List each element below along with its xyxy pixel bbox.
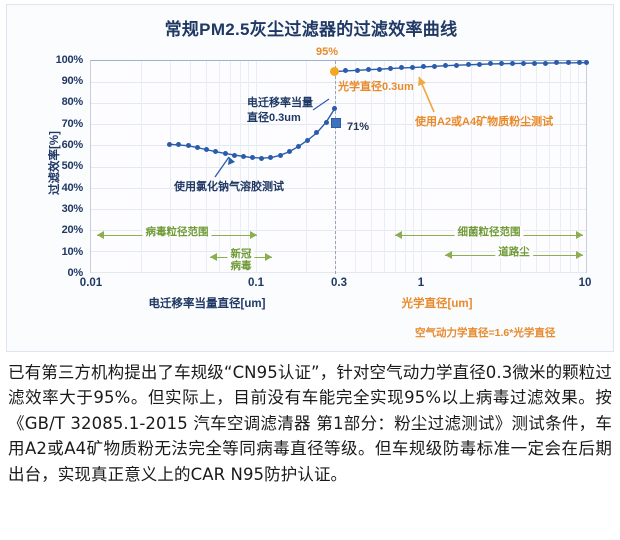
data-point <box>577 60 582 65</box>
range-bacteria-arrow-left <box>395 231 402 239</box>
data-point <box>543 61 548 66</box>
gridline-horizontal <box>91 272 586 273</box>
range-road-dust-label: 道路尘 <box>495 246 533 258</box>
annotation-optical-diameter: 光学直径0.3um <box>338 80 414 94</box>
range-bacteria-label: 细菌粒径范围 <box>455 226 524 238</box>
series-line-1 <box>335 63 586 72</box>
chart-panel: 常规PM2.5灰尘过滤器的过滤效率曲线 过滤效率[%] 100% 90% 80%… <box>6 4 614 352</box>
highlight-marker-71 <box>331 118 341 128</box>
range-road-dust-arrow-left <box>445 251 452 259</box>
data-point <box>259 156 264 161</box>
annotation-nacl-test: 使用氯化钠气溶胶测试 <box>174 180 284 194</box>
data-point <box>232 153 237 158</box>
range-bacteria-arrow-right <box>576 231 583 239</box>
range-virus-label: 病毒粒径范围 <box>143 226 212 238</box>
article-paragraph: 已有第三方机构提出了车规级“CN95认证”，针对空气动力学直径0.3微米的颗粒过… <box>8 360 612 487</box>
data-point <box>241 154 246 159</box>
annotation-a2a4-test: 使用A2或A4矿物质粉尘测试 <box>415 115 553 129</box>
y-tick-10: 10% <box>23 246 83 258</box>
data-point <box>377 67 382 72</box>
y-tick-100: 100% <box>23 54 83 66</box>
y-tick-60: 60% <box>23 139 83 151</box>
y-tick-40: 40% <box>23 182 83 194</box>
x-tick-1: 1 <box>418 277 424 289</box>
label-95-percent: 95% <box>316 46 338 58</box>
data-point <box>305 138 310 143</box>
range-covid: 新冠 病毒 <box>210 252 272 264</box>
data-point <box>204 147 209 152</box>
y-tick-80: 80% <box>23 96 83 108</box>
range-virus-arrow-left <box>97 231 104 239</box>
range-covid-arrow-right <box>265 253 272 261</box>
label-71-percent: 71% <box>347 121 369 133</box>
data-point <box>584 60 589 65</box>
data-point <box>195 145 200 150</box>
data-point <box>477 62 482 67</box>
range-virus-arrow-right <box>250 231 257 239</box>
data-point <box>324 120 329 125</box>
annotation-electro-line2: 直径0.3um <box>247 111 301 125</box>
data-point <box>532 61 537 66</box>
data-point <box>566 60 571 65</box>
range-road-dust: 道路尘 <box>445 250 583 262</box>
data-point <box>521 61 526 66</box>
x-tick-0-3: 0.3 <box>331 277 347 289</box>
x-tick-0-01: 0.01 <box>80 277 102 289</box>
y-tick-90: 90% <box>23 75 83 87</box>
data-point <box>432 64 437 69</box>
data-point <box>223 151 228 156</box>
y-tick-0: 0% <box>23 267 83 279</box>
x-axis-title-right: 光学直径[um] <box>402 295 473 311</box>
y-tick-70: 70% <box>23 118 83 130</box>
data-point <box>287 149 292 154</box>
x-tick-0-1: 0.1 <box>248 277 264 289</box>
data-point <box>466 62 471 67</box>
screenshot-root: 常规PM2.5灰尘过滤器的过滤效率曲线 过滤效率[%] 100% 90% 80%… <box>0 0 620 540</box>
x-tick-10: 10 <box>579 277 592 289</box>
data-point <box>355 68 360 73</box>
range-covid-arrow-left <box>210 253 217 261</box>
range-virus: 病毒粒径范围 <box>97 230 257 242</box>
range-covid-label-line1: 新冠 <box>228 248 255 260</box>
chart-title: 常规PM2.5灰尘过滤器的过滤效率曲线 <box>7 15 615 40</box>
annotation-electro-line1: 电迁移率当量 <box>247 96 313 110</box>
data-point <box>388 66 393 71</box>
y-tick-30: 30% <box>23 203 83 215</box>
x-axis-title-left: 电迁移率当量直径[um] <box>149 295 266 311</box>
data-point <box>278 153 283 158</box>
y-tick-50: 50% <box>23 160 83 172</box>
aerodynamic-formula-note: 空气动力学直径=1.6*光学直径 <box>415 325 555 340</box>
y-tick-20: 20% <box>23 224 83 236</box>
range-bacteria: 细菌粒径范围 <box>395 230 583 242</box>
data-point <box>510 61 515 66</box>
data-point <box>250 155 255 160</box>
data-point <box>296 144 301 149</box>
range-covid-label-line2: 病毒 <box>228 260 255 272</box>
range-road-dust-arrow-right <box>576 251 583 259</box>
